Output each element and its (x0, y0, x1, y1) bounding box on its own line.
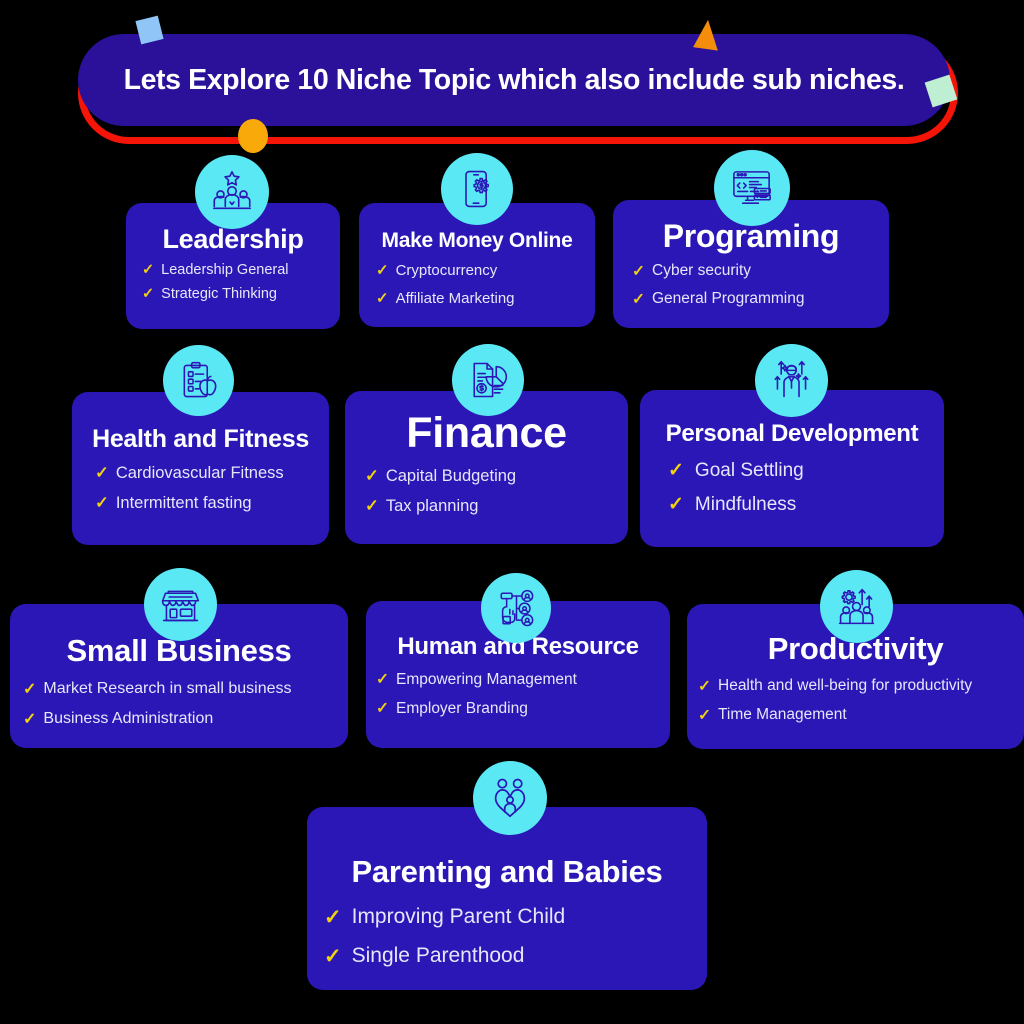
infographic-canvas: Lets Explore 10 Niche Topic which also i… (0, 0, 1024, 1024)
card-title: Parenting and Babies (307, 856, 707, 889)
check-icon: ✓ (668, 459, 684, 482)
check-icon: ✓ (632, 290, 645, 309)
check-icon: ✓ (95, 463, 109, 483)
bullet-list: ✓ Health and well-being for productivity… (687, 677, 1024, 725)
bullet-label: Cyber security (652, 262, 751, 280)
decor-orange-triangle-icon (693, 18, 722, 50)
bullet-list: ✓ Capital Budgeting ✓ Tax planning (345, 466, 628, 516)
clipboard-apple-icon (163, 345, 234, 416)
bullet-label: Capital Budgeting (386, 467, 516, 486)
leadership-team-star-icon (195, 155, 269, 229)
bullet-label: Improving Parent Child (352, 905, 566, 929)
bullet-list: ✓ Improving Parent Child ✓ Single Parent… (307, 905, 707, 969)
list-item: ✓ Empowering Management (376, 670, 670, 689)
list-item: ✓ Single Parenthood (324, 944, 707, 969)
storefront-shop-icon (144, 568, 217, 641)
decor-orange-circle-icon (238, 119, 268, 153)
list-item: ✓ Time Management (698, 706, 1024, 725)
bullet-label: Employer Branding (396, 700, 528, 718)
list-item: ✓ Capital Budgeting (365, 466, 628, 486)
check-icon: ✓ (365, 466, 379, 486)
bullet-label: Cryptocurrency (396, 262, 498, 279)
check-icon: ✓ (376, 699, 389, 718)
list-item: ✓ Cryptocurrency (376, 261, 595, 279)
check-icon: ✓ (698, 706, 711, 725)
bullet-label: Cardiovascular Fitness (116, 464, 284, 483)
bullet-label: Mindfulness (695, 494, 796, 516)
person-growth-arrows-icon (755, 344, 828, 417)
list-item: ✓ Mindfulness (668, 493, 944, 516)
list-item: ✓ Improving Parent Child (324, 905, 707, 930)
bullet-list: ✓ Cardiovascular Fitness ✓ Intermittent … (72, 463, 329, 513)
check-icon: ✓ (324, 905, 342, 930)
check-icon: ✓ (376, 261, 389, 279)
list-item: ✓ Tax planning (365, 496, 628, 516)
bullet-list: ✓ Empowering Management ✓ Employer Brand… (366, 670, 670, 718)
card-title: Personal Development (640, 421, 944, 446)
bullet-label: Time Management (718, 706, 847, 724)
bullet-label: Goal Settling (695, 460, 804, 482)
card-title: Make Money Online (359, 230, 595, 252)
bullet-label: Single Parenthood (352, 944, 525, 968)
list-item: ✓ Intermittent fasting (95, 493, 329, 513)
bullet-label: Business Administration (43, 710, 213, 728)
check-icon: ✓ (95, 493, 109, 513)
bullet-label: Health and well-being for productivity (718, 677, 972, 695)
list-item: ✓ Cardiovascular Fitness (95, 463, 329, 483)
check-icon: ✓ (632, 262, 645, 281)
header-bar: Lets Explore 10 Niche Topic which also i… (78, 34, 950, 126)
list-item: ✓ Affiliate Marketing (376, 289, 595, 307)
check-icon: ✓ (142, 262, 154, 278)
page-title: Lets Explore 10 Niche Topic which also i… (124, 64, 905, 97)
check-icon: ✓ (23, 679, 36, 699)
list-item: ✓ Market Research in small business (23, 679, 348, 699)
bullet-list: ✓ Market Research in small business ✓ Bu… (10, 679, 348, 729)
bullet-label: Tax planning (386, 497, 479, 516)
bullet-label: Affiliate Marketing (396, 290, 515, 307)
list-item: ✓ Leadership General (142, 262, 340, 278)
bullet-label: Strategic Thinking (161, 286, 277, 302)
check-icon: ✓ (376, 670, 389, 689)
hand-org-chart-people-icon (481, 573, 551, 643)
check-icon: ✓ (365, 496, 379, 516)
check-icon: ✓ (23, 709, 36, 729)
bullet-label: Intermittent fasting (116, 494, 252, 513)
list-item: ✓ Employer Branding (376, 699, 670, 718)
bullet-label: General Programming (652, 290, 804, 308)
computer-code-server-icon (714, 150, 790, 226)
check-icon: ✓ (668, 493, 684, 516)
bullet-list: ✓ Cyber security ✓ General Programming (613, 262, 889, 309)
bullet-label: Empowering Management (396, 671, 577, 689)
mobile-money-gear-icon (441, 153, 513, 225)
bullet-list: ✓ Leadership General ✓ Strategic Thinkin… (126, 262, 340, 302)
check-icon: ✓ (376, 289, 389, 307)
check-icon: ✓ (324, 944, 342, 969)
bullet-label: Leadership General (161, 262, 288, 278)
family-heart-icon (473, 761, 547, 835)
gear-people-arrows-icon (820, 570, 893, 643)
document-pie-chart-dollar-icon (452, 344, 524, 416)
bullet-label: Market Research in small business (43, 680, 291, 698)
check-icon: ✓ (698, 677, 711, 696)
list-item: ✓ Health and well-being for productivity (698, 677, 1024, 696)
bullet-list: ✓ Cryptocurrency ✓ Affiliate Marketing (359, 261, 595, 307)
header-banner: Lets Explore 10 Niche Topic which also i… (70, 20, 960, 140)
card-title: Leadership (126, 225, 340, 253)
list-item: ✓ Goal Settling (668, 459, 944, 482)
card-title: Health and Fitness (72, 426, 329, 452)
bullet-list: ✓ Goal Settling ✓ Mindfulness (640, 459, 944, 516)
list-item: ✓ General Programming (632, 290, 889, 309)
list-item: ✓ Strategic Thinking (142, 286, 340, 302)
card-title: Finance (345, 411, 628, 456)
list-item: ✓ Business Administration (23, 709, 348, 729)
check-icon: ✓ (142, 286, 154, 302)
list-item: ✓ Cyber security (632, 262, 889, 281)
